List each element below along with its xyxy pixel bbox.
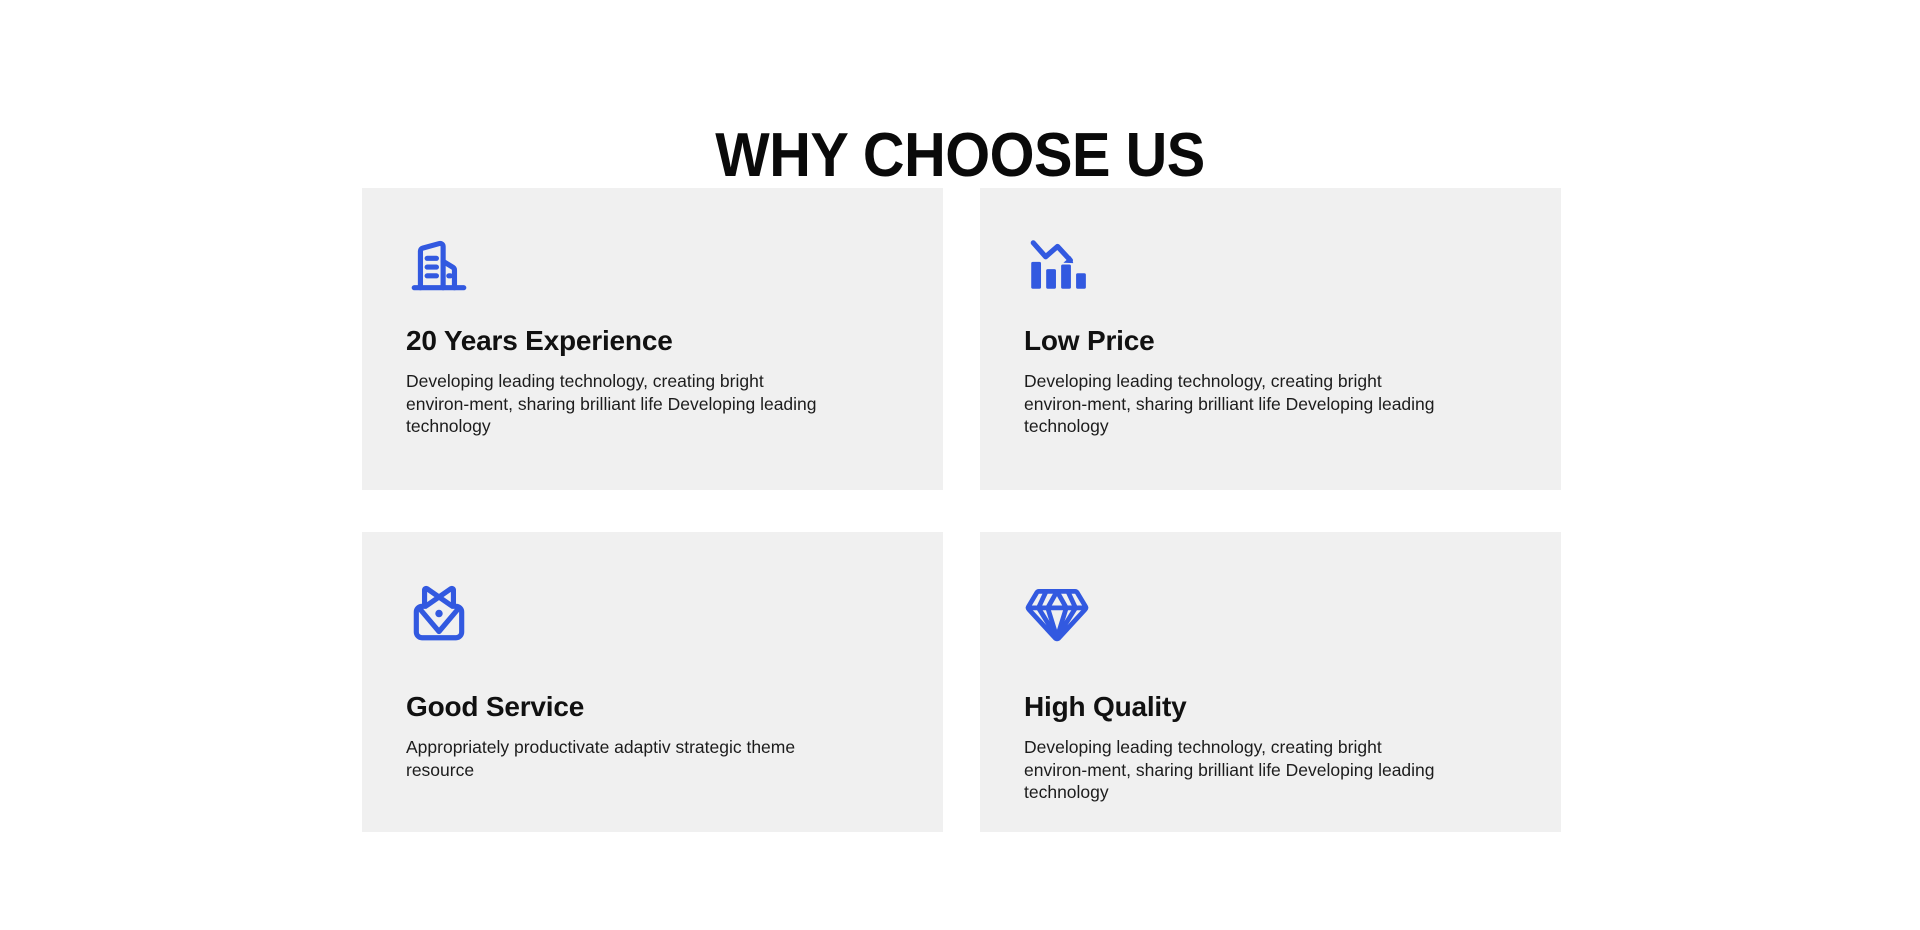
feature-card-low-price[interactable]: Low Price Developing leading technology,… <box>980 188 1561 490</box>
feature-card-description: Developing leading technology, creating … <box>1024 370 1444 438</box>
tuxedo-bowtie-icon <box>406 580 472 646</box>
page-title: WHY CHOOSE US <box>67 120 1853 192</box>
feature-card-title: Low Price <box>1024 324 1517 358</box>
feature-card-high-quality[interactable]: High Quality Developing leading technolo… <box>980 532 1561 832</box>
feature-card-title: 20 Years Experience <box>406 324 899 358</box>
feature-card-description: Developing leading technology, creating … <box>406 370 826 438</box>
feature-card-description: Developing leading technology, creating … <box>1024 736 1444 804</box>
declining-bar-chart-icon <box>1024 232 1090 298</box>
feature-card-description: Appropriately productivate adaptiv strat… <box>406 736 826 781</box>
feature-card-20-years-experience[interactable]: 20 Years Experience Developing leading t… <box>362 188 943 490</box>
feature-card-grid: 20 Years Experience Developing leading t… <box>362 188 1561 832</box>
office-building-icon <box>406 232 472 298</box>
feature-card-title: Good Service <box>406 690 899 724</box>
diamond-gem-icon <box>1024 580 1090 646</box>
why-choose-us-section: WHY CHOOSE US 20 Years Experience <box>0 0 1920 930</box>
feature-card-title: High Quality <box>1024 690 1517 724</box>
feature-card-good-service[interactable]: Good Service Appropriately productivate … <box>362 532 943 832</box>
